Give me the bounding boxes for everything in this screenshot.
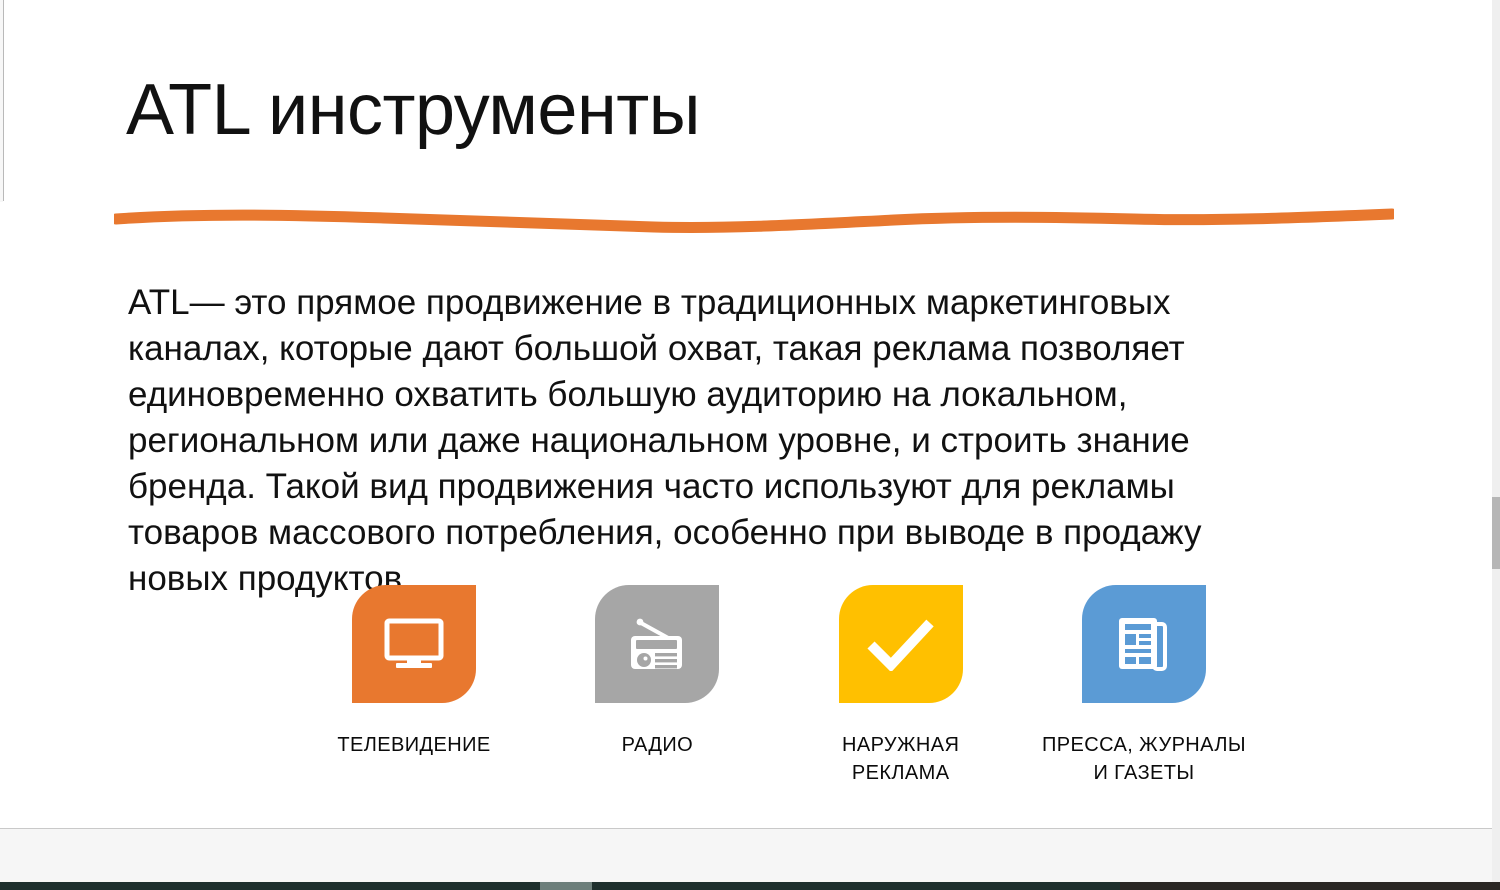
television-icon: [383, 618, 445, 670]
channel-item-press[interactable]: ПРЕССА, ЖУРНАЛЫ И ГАЗЕТЫ: [1034, 585, 1254, 787]
channel-item-outdoor[interactable]: НАРУЖНАЯ РЕКЛАМА: [791, 585, 1011, 787]
radio-tile[interactable]: [595, 585, 719, 703]
channel-item-television[interactable]: ТЕЛЕВИДЕНИЕ: [304, 585, 524, 759]
channel-label-press: ПРЕССА, ЖУРНАЛЫ И ГАЗЕТЫ: [1034, 731, 1254, 787]
page-title: ATL инструменты: [126, 74, 700, 146]
taskbar[interactable]: [0, 882, 1500, 890]
document-viewport: ATL инструменты ATL— это прямое продвиже…: [0, 0, 1500, 890]
press-tile[interactable]: [1082, 585, 1206, 703]
body-paragraph: ATL— это прямое продвижение в традиционн…: [128, 280, 1278, 602]
title-underline-wavy-rule: [114, 202, 1394, 238]
outdoor-tile[interactable]: [839, 585, 963, 703]
channel-label-radio: РАДИО: [622, 731, 693, 759]
taskbar-tray[interactable]: [1120, 882, 1500, 890]
channel-label-television: ТЕЛЕВИДЕНИЕ: [337, 731, 490, 759]
television-tile[interactable]: [352, 585, 476, 703]
below-slide-area: [0, 828, 1492, 882]
taskbar-active-item[interactable]: [540, 882, 592, 890]
newspaper-icon: [1114, 615, 1174, 673]
radio-icon: [626, 615, 688, 673]
channel-item-radio[interactable]: РАДИО: [547, 585, 767, 759]
vertical-scrollbar-thumb[interactable]: [1492, 497, 1500, 569]
channel-label-outdoor: НАРУЖНАЯ РЕКЛАМА: [791, 731, 1011, 787]
slide-canvas: ATL инструменты ATL— это прямое продвиже…: [4, 0, 1492, 828]
checkmark-icon: [866, 617, 936, 671]
atl-channels-row: ТЕЛЕВИДЕНИЕ: [304, 585, 1254, 787]
vertical-scrollbar[interactable]: [1492, 0, 1500, 882]
